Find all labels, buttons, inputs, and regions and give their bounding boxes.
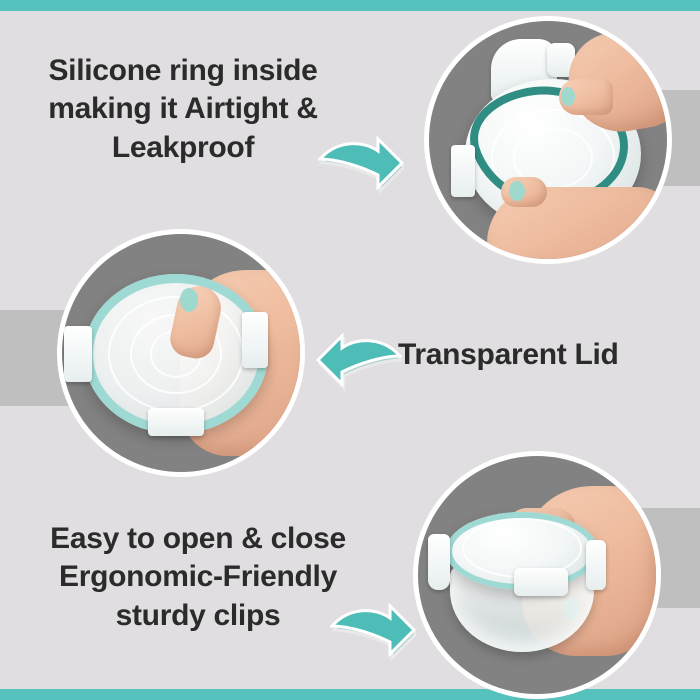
caption-line: Silicone ring inside <box>18 52 348 90</box>
infographic-canvas: Silicone ring inside making it Airtight … <box>0 0 700 700</box>
side-clip-left-icon <box>64 326 92 382</box>
feature-caption-silicone-ring: Silicone ring inside making it Airtight … <box>18 52 348 167</box>
feature-photo-silicone-ring <box>429 21 667 259</box>
caption-line: sturdy clips <box>18 597 378 635</box>
side-clip-right-icon <box>242 312 268 368</box>
feature-photo-transparent-lid <box>62 234 300 472</box>
caption-line: Transparent Lid <box>398 336 688 374</box>
photo-scene-silicone-ring <box>429 21 667 259</box>
arrow-right-icon <box>330 600 416 662</box>
caption-line: Ergonomic-Friendly <box>18 558 378 596</box>
photo-scene-sturdy-clips <box>418 456 656 694</box>
front-clip-icon <box>514 568 568 596</box>
top-accent-bar <box>0 0 700 11</box>
fingernail-upper <box>561 87 575 106</box>
caption-line: making it Airtight & <box>18 90 348 128</box>
arrow-left-icon <box>316 330 402 392</box>
feature-caption-sturdy-clips: Easy to open & close Ergonomic-Friendly … <box>18 520 378 635</box>
side-clip-left-icon <box>428 534 450 590</box>
side-clip-bottom-icon <box>148 408 204 436</box>
photo-scene-transparent-lid <box>62 234 300 472</box>
caption-line: Easy to open & close <box>18 520 378 558</box>
fingernail <box>180 288 198 312</box>
side-clip-right-icon <box>586 540 606 590</box>
caption-line: Leakproof <box>18 129 348 167</box>
feature-photo-sturdy-clips <box>418 456 656 694</box>
feature-caption-transparent-lid: Transparent Lid <box>398 336 688 374</box>
fingernail-lower <box>509 181 525 201</box>
side-clip-icon <box>451 145 475 197</box>
arrow-right-icon <box>318 133 404 195</box>
